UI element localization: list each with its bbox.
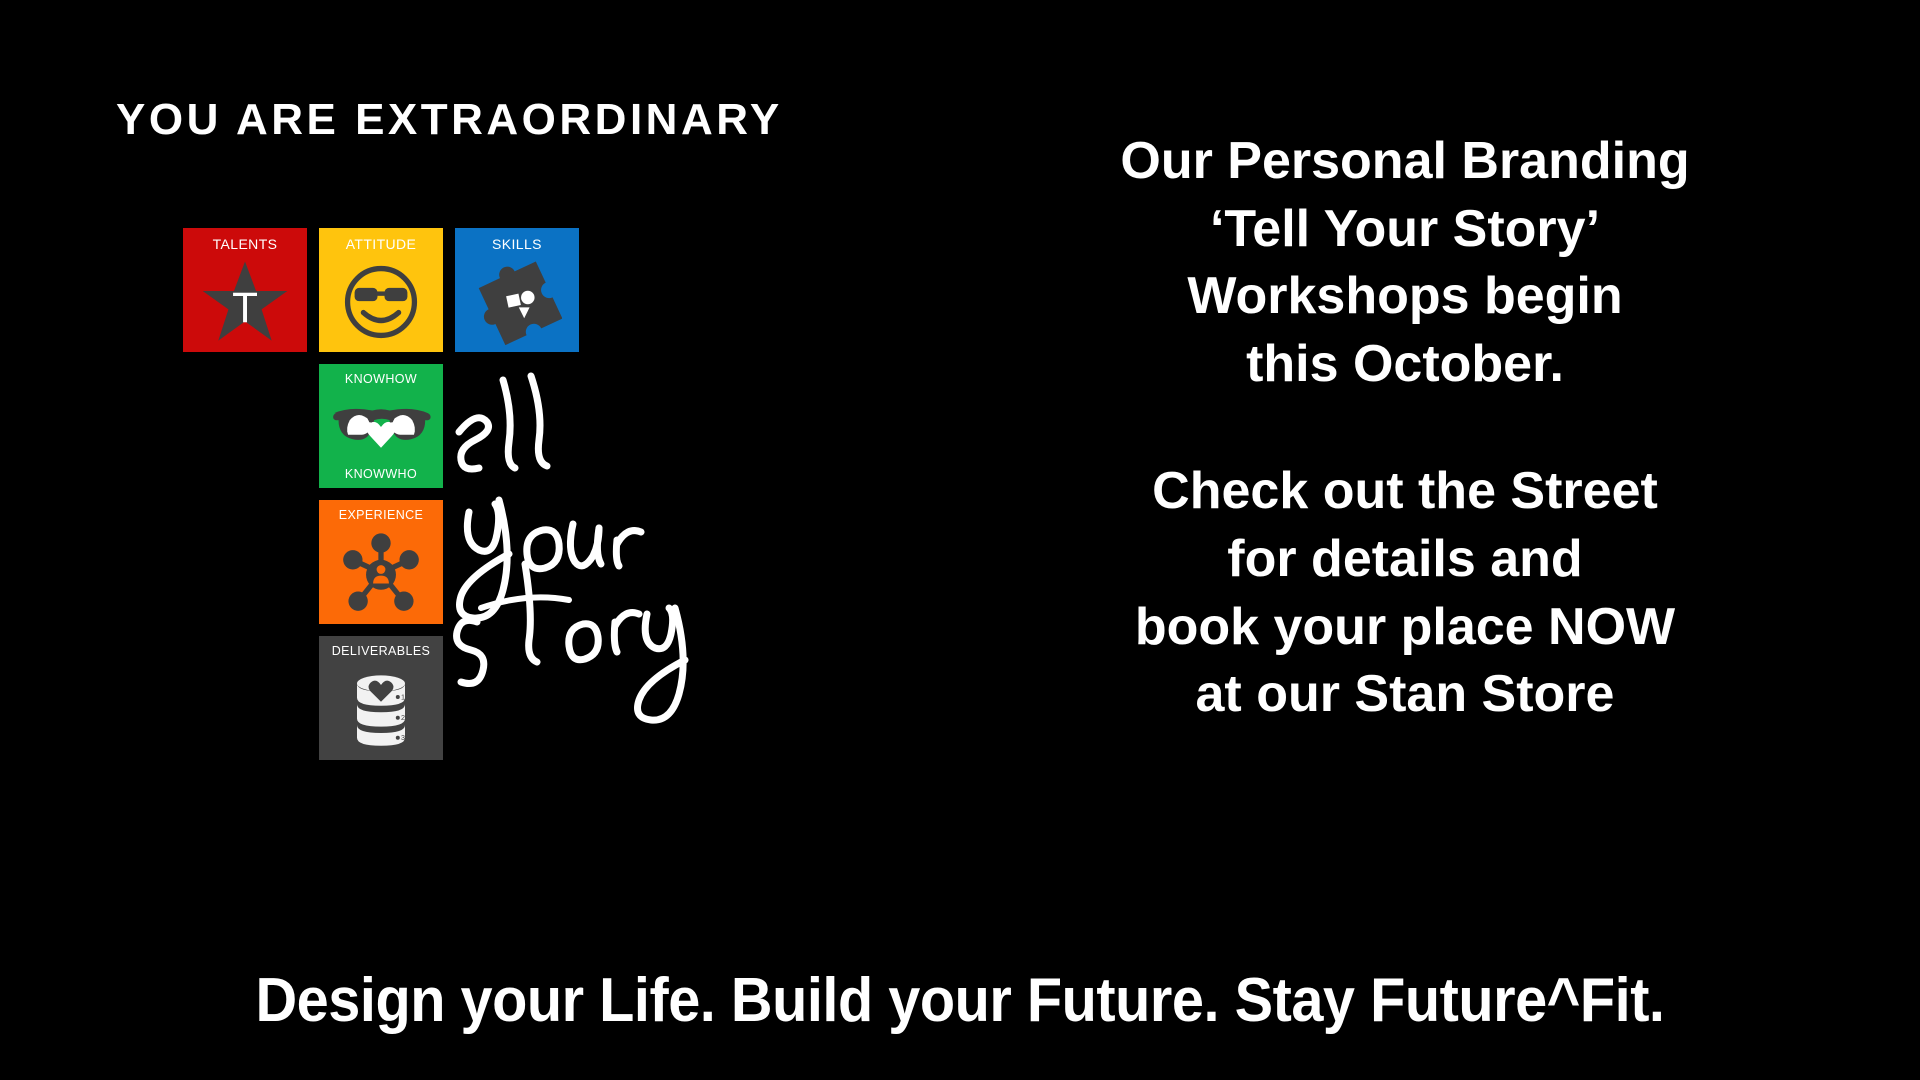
page-title: YOU ARE EXTRAORDINARY (116, 95, 783, 145)
announcement-copy: Our Personal Branding ‘Tell Your Story’ … (1000, 128, 1810, 729)
star-icon: T (183, 252, 307, 352)
smiley-sunglasses-icon (319, 252, 443, 352)
svg-text:2: 2 (401, 714, 405, 723)
copy-line: for details and (1227, 530, 1582, 588)
tile-experience-label: EXPERIENCE (339, 509, 424, 523)
svg-text:3: 3 (401, 734, 405, 743)
copy-line: book your place NOW (1135, 598, 1675, 656)
script-lettering-tell-your-story (447, 372, 777, 712)
tile-deliverables-label: DELIVERABLES (332, 645, 431, 659)
tile-knowwho-label: KNOWWHO (345, 467, 417, 488)
tile-row-top: TALENTS T ATTITUDE (183, 228, 579, 352)
tile-skills-label: SKILLS (492, 237, 542, 252)
copy-line: Our Personal Branding (1120, 132, 1689, 190)
poster-canvas: YOU ARE EXTRAORDINARY TALENTS T ATTITUDE (0, 0, 1920, 1080)
tile-knowhow-knowwho[interactable]: KNOWHOW KN (319, 364, 443, 488)
network-person-icon (319, 523, 443, 624)
tile-experience[interactable]: EXPERIENCE (319, 500, 443, 624)
copy-line: at our Stan Store (1196, 665, 1615, 723)
puzzle-piece-icon (455, 252, 579, 352)
database-heart-icon: 1 2 3 (319, 659, 443, 760)
copy-line: Check out the Street (1152, 462, 1658, 520)
tile-attitude[interactable]: ATTITUDE (319, 228, 443, 352)
svg-text:1: 1 (401, 693, 405, 702)
copy-line: this October. (1246, 335, 1564, 393)
tile-skills[interactable]: SKILLS (455, 228, 579, 352)
tile-attitude-label: ATTITUDE (346, 237, 417, 252)
tile-deliverables[interactable]: DELIVERABLES 1 2 3 (319, 636, 443, 760)
copy-line: ‘Tell Your Story’ (1210, 200, 1600, 258)
tile-talents-label: TALENTS (213, 237, 278, 252)
tile-talents[interactable]: TALENTS T (183, 228, 307, 352)
bottom-tagline: Design your Life. Build your Future. Sta… (67, 965, 1853, 1036)
svg-text:T: T (232, 284, 258, 331)
announcement-paragraph-2: Check out the Street for details and boo… (1000, 458, 1810, 728)
glasses-heads-heart-icon (319, 387, 443, 467)
copy-line: Workshops begin (1187, 267, 1622, 325)
tile-knowhow-label: KNOWHOW (345, 373, 417, 387)
announcement-paragraph-1: Our Personal Branding ‘Tell Your Story’ … (1000, 128, 1810, 398)
